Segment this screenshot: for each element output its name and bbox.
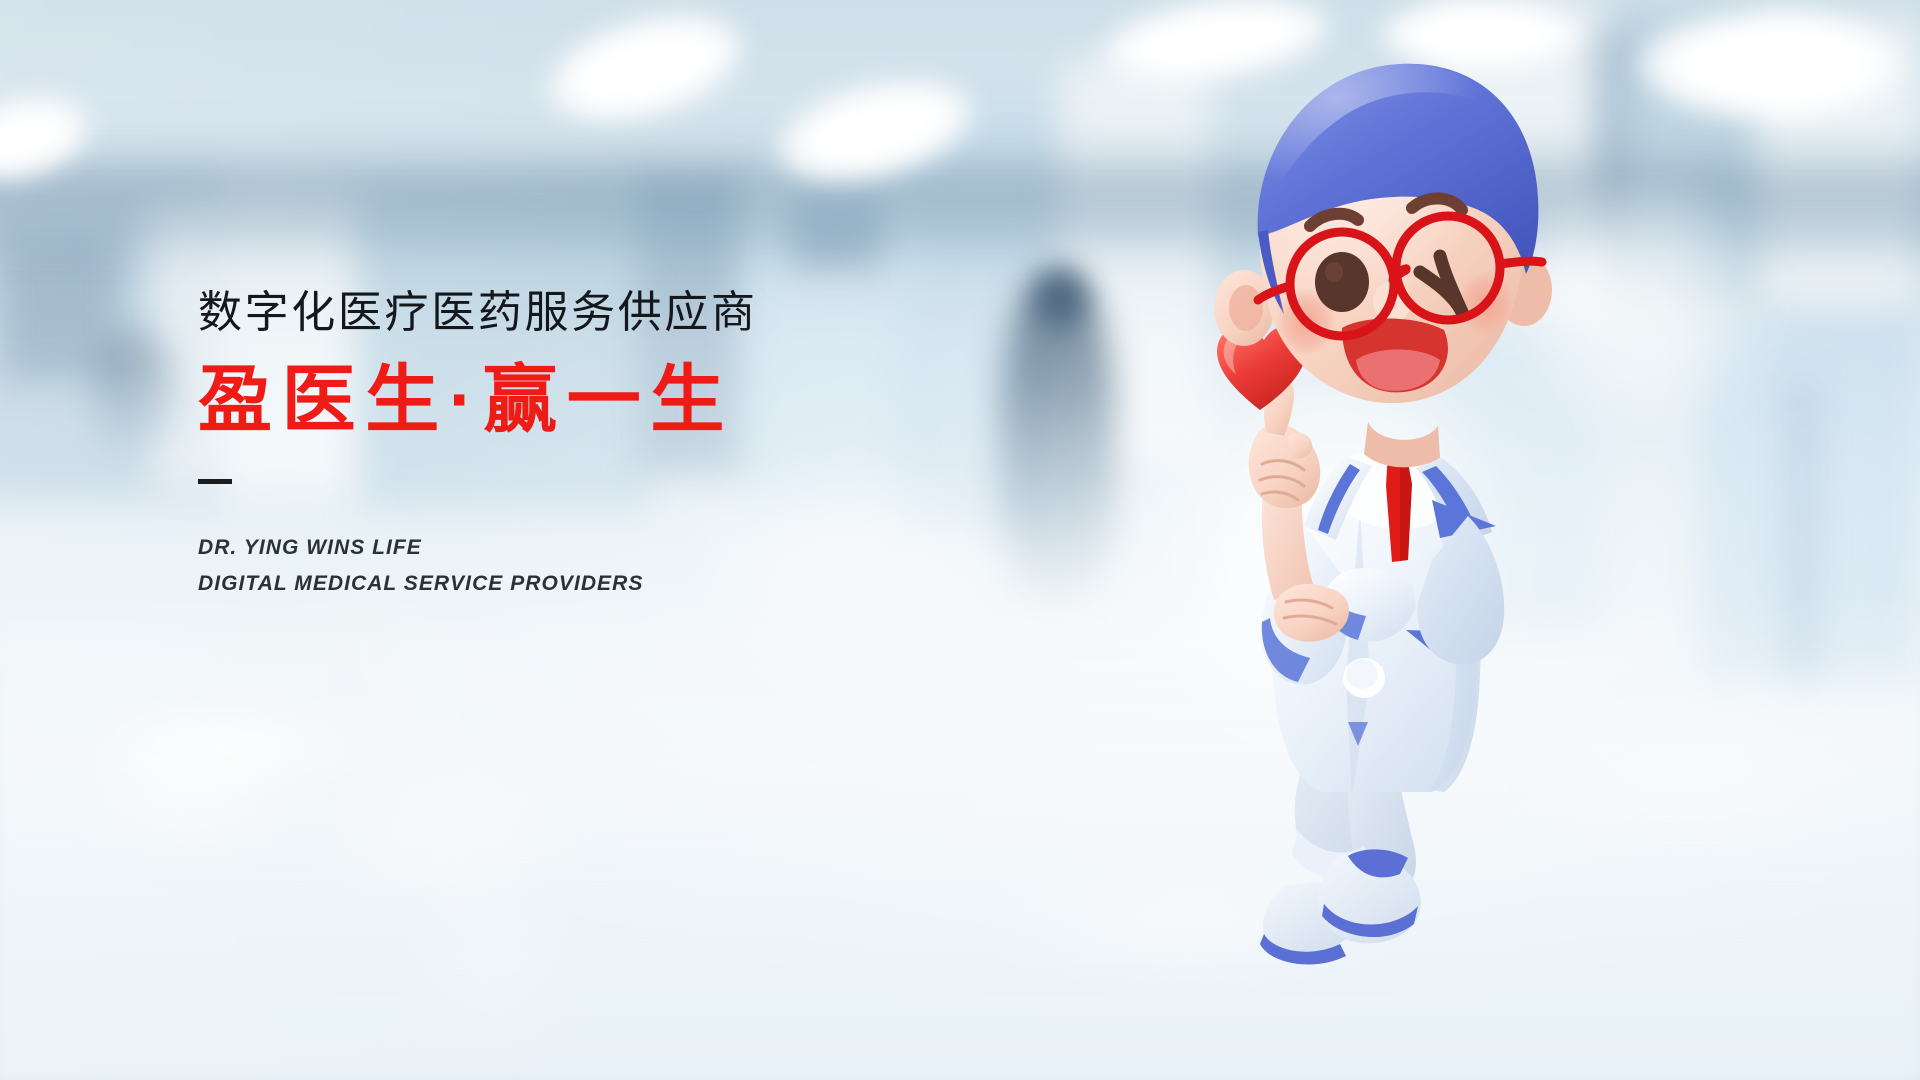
mascot-head	[1258, 64, 1542, 403]
hero-copy: 数字化医疗医药服务供应商 盈医生·赢一生 DR. YING WINS LIFE …	[198, 286, 1098, 602]
hero-subtitle-line-1: DR. YING WINS LIFE	[198, 530, 1098, 566]
mascot-shoes	[1260, 849, 1421, 964]
hero-subtitle-line-2: DIGITAL MEDICAL SERVICE PROVIDERS	[198, 566, 1098, 602]
hero-subtitle-en: DR. YING WINS LIFE DIGITAL MEDICAL SERVI…	[198, 530, 1098, 602]
doctor-mascot	[1200, 40, 1620, 1050]
hero-divider	[198, 479, 232, 484]
hero-banner: 数字化医疗医药服务供应商 盈医生·赢一生 DR. YING WINS LIFE …	[0, 0, 1920, 1080]
hero-headline-cn: 数字化医疗医药服务供应商	[198, 286, 1098, 340]
hero-title-cn: 盈医生·赢一生	[198, 356, 1098, 443]
